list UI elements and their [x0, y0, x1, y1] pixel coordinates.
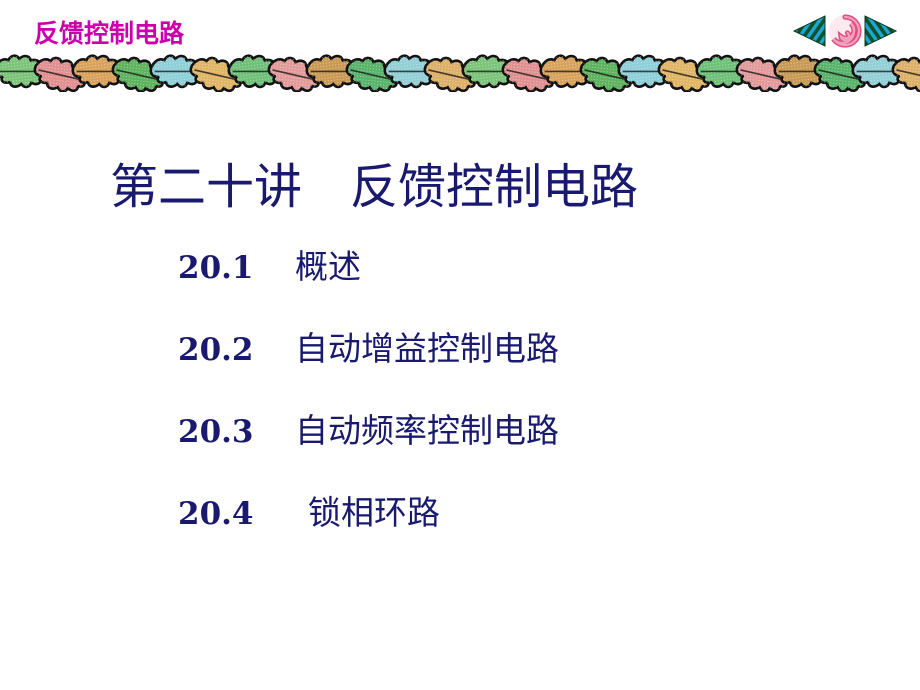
- outline-number: 20.3: [178, 414, 295, 450]
- spiral-icon: [829, 15, 861, 47]
- presentation-slide: 反馈控制电路: [0, 0, 920, 690]
- outline-label: 概述: [295, 248, 361, 286]
- spiral-swirl-logo: [792, 8, 898, 54]
- header-running-title: 反馈控制电路: [34, 19, 184, 49]
- oak-leaf-border: [0, 50, 920, 92]
- left-arrow-icon: [794, 16, 825, 46]
- outline-list: 20.1 概述 20.2 自动增益控制电路 20.3 自动频率控制电路 20.4…: [178, 248, 878, 576]
- outline-item-20-4[interactable]: 20.4 锁相环路: [178, 494, 878, 576]
- outline-number: 20.1: [178, 250, 295, 286]
- right-arrow-icon: [865, 16, 896, 46]
- outline-number: 20.4: [178, 496, 295, 532]
- outline-label: 自动频率控制电路: [295, 412, 559, 450]
- outline-label: 锁相环路: [295, 494, 440, 532]
- outline-number: 20.2: [178, 332, 295, 368]
- outline-item-20-1[interactable]: 20.1 概述: [178, 248, 878, 330]
- outline-item-20-3[interactable]: 20.3 自动频率控制电路: [178, 412, 878, 494]
- outline-label: 自动增益控制电路: [295, 330, 559, 368]
- outline-item-20-2[interactable]: 20.2 自动增益控制电路: [178, 330, 878, 412]
- slide-main-title: 第二十讲 反馈控制电路: [110, 158, 810, 216]
